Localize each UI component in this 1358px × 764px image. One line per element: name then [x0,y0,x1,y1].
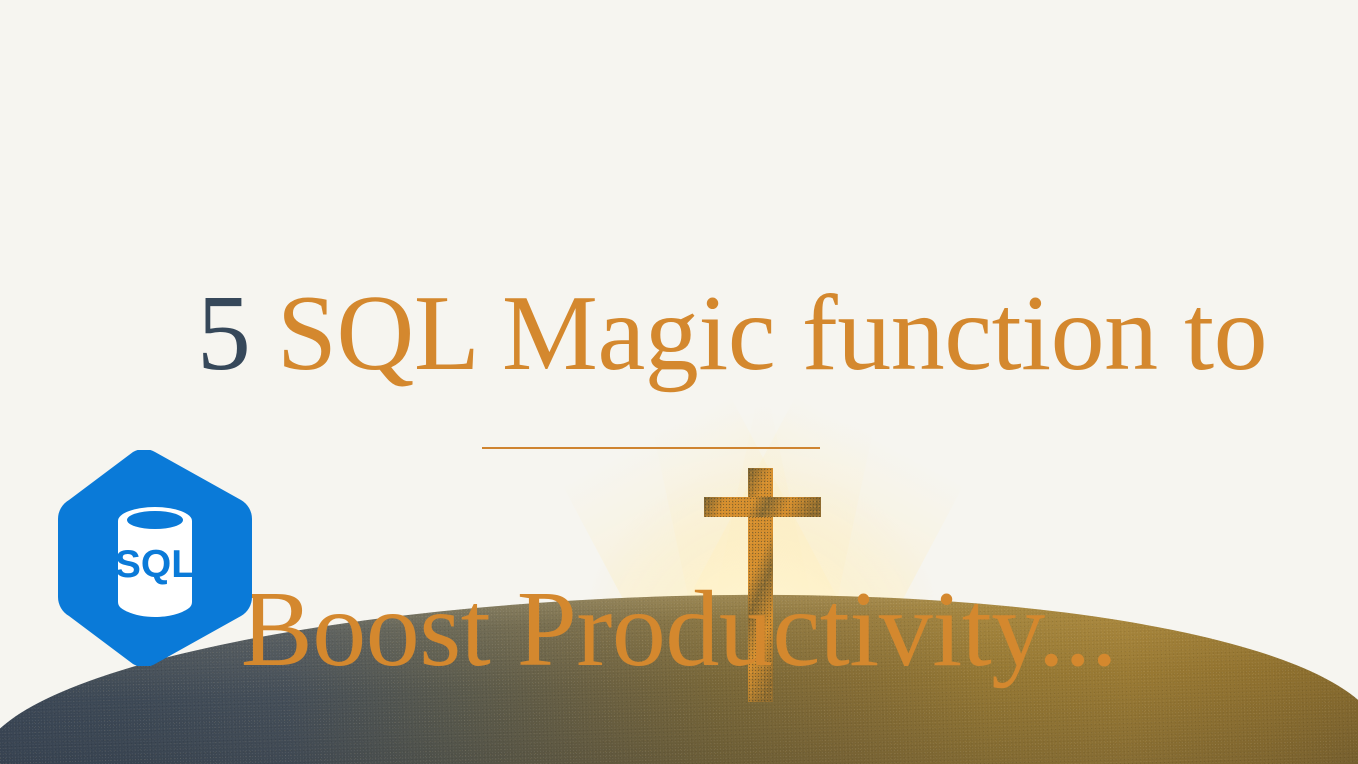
page-title: 5 SQL Magic function to Boost Productivi… [0,112,1358,764]
title-line-one: SQL Magic function to [250,274,1267,393]
azure-sql-database-logo: SQL [55,450,255,666]
banner-image: 5 SQL Magic function to Boost Productivi… [0,0,1358,764]
title-number: 5 [197,274,251,393]
logo-label: SQL [115,543,195,586]
horizontal-rule [482,447,820,449]
database-cylinder-rim [127,511,183,529]
